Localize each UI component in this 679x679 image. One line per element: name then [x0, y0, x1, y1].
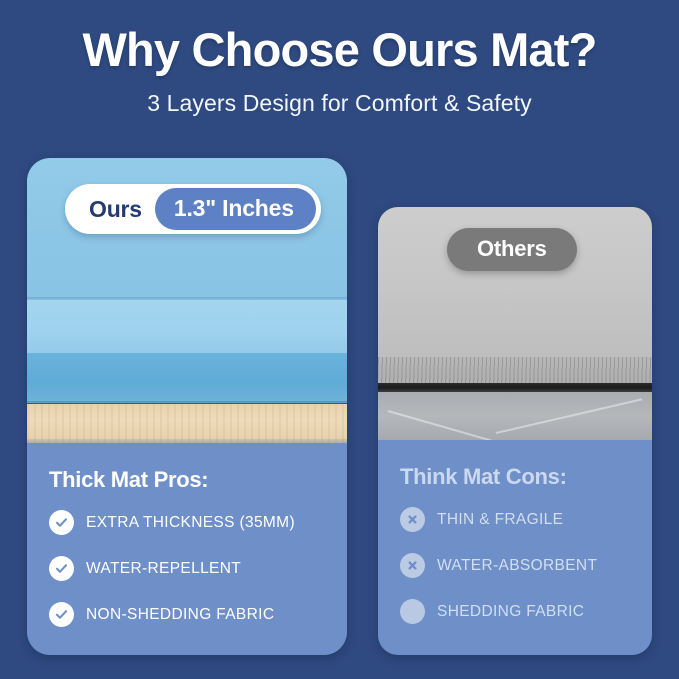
- list-item: THIN & FRAGILE: [378, 507, 652, 553]
- page-subtitle: 3 Layers Design for Comfort & Safety: [0, 90, 679, 117]
- list-item: EXTRA THICKNESS (35MM): [27, 510, 347, 556]
- check-icon: [49, 510, 74, 535]
- list-item: SHEDDING FABRIC: [378, 599, 652, 645]
- ours-footer: Thick Mat Pros: EXTRA THICKNESS (35MM): [27, 443, 347, 655]
- others-mat-photo: Others: [378, 207, 652, 440]
- check-icon: [49, 556, 74, 581]
- mat-layer-bottom: [27, 353, 347, 403]
- grey-mat-texture: [378, 357, 652, 385]
- list-item: NON-SHEDDING FABRIC: [27, 602, 347, 648]
- mat-layer-middle: [27, 300, 347, 353]
- tile-grout-line: [496, 398, 643, 434]
- wood-floor: [27, 404, 347, 443]
- page-title: Why Choose Ours Mat?: [0, 24, 679, 77]
- list-item: WATER-REPELLENT: [27, 556, 347, 602]
- pros-list: EXTRA THICKNESS (35MM) WATER-REPELLENT: [27, 510, 347, 648]
- list-item-label: EXTRA THICKNESS (35MM): [86, 514, 295, 532]
- list-item-label: WATER-REPELLENT: [86, 560, 241, 578]
- list-item-label: NON-SHEDDING FABRIC: [86, 606, 274, 624]
- check-icon: [49, 602, 74, 627]
- cons-list: THIN & FRAGILE WATER-ABSORBENT SHEDDING …: [378, 507, 652, 645]
- list-item-label: SHEDDING FABRIC: [437, 603, 584, 621]
- ours-card[interactable]: Ours 1.3" Inches Thick Mat Pros: EXTRA T…: [27, 158, 347, 655]
- others-footer-title: Think Mat Cons:: [378, 440, 652, 490]
- ours-badge[interactable]: Ours 1.3" Inches: [65, 184, 321, 234]
- tile-grout-line: [388, 410, 499, 440]
- others-footer: Think Mat Cons: THIN & FRAGILE: [378, 440, 652, 655]
- x-icon: [400, 507, 425, 532]
- x-icon: [400, 553, 425, 578]
- grey-mat-edge: [378, 383, 652, 392]
- list-item: WATER-ABSORBENT: [378, 553, 652, 599]
- list-item-label: THIN & FRAGILE: [437, 511, 563, 529]
- ours-badge-label: Ours: [65, 193, 155, 226]
- tile-floor: [378, 392, 652, 440]
- others-card[interactable]: Others Think Mat Cons: THIN & FRAGILE: [378, 207, 652, 655]
- page-header: Why Choose Ours Mat? 3 Layers Design for…: [0, 0, 679, 117]
- blank-circle-icon: [400, 599, 425, 624]
- others-badge[interactable]: Others: [447, 228, 577, 271]
- ours-footer-title: Thick Mat Pros:: [27, 443, 347, 493]
- list-item-label: WATER-ABSORBENT: [437, 557, 597, 575]
- ours-thickness-badge: 1.3" Inches: [155, 188, 316, 230]
- ours-mat-photo: Ours 1.3" Inches: [27, 158, 347, 443]
